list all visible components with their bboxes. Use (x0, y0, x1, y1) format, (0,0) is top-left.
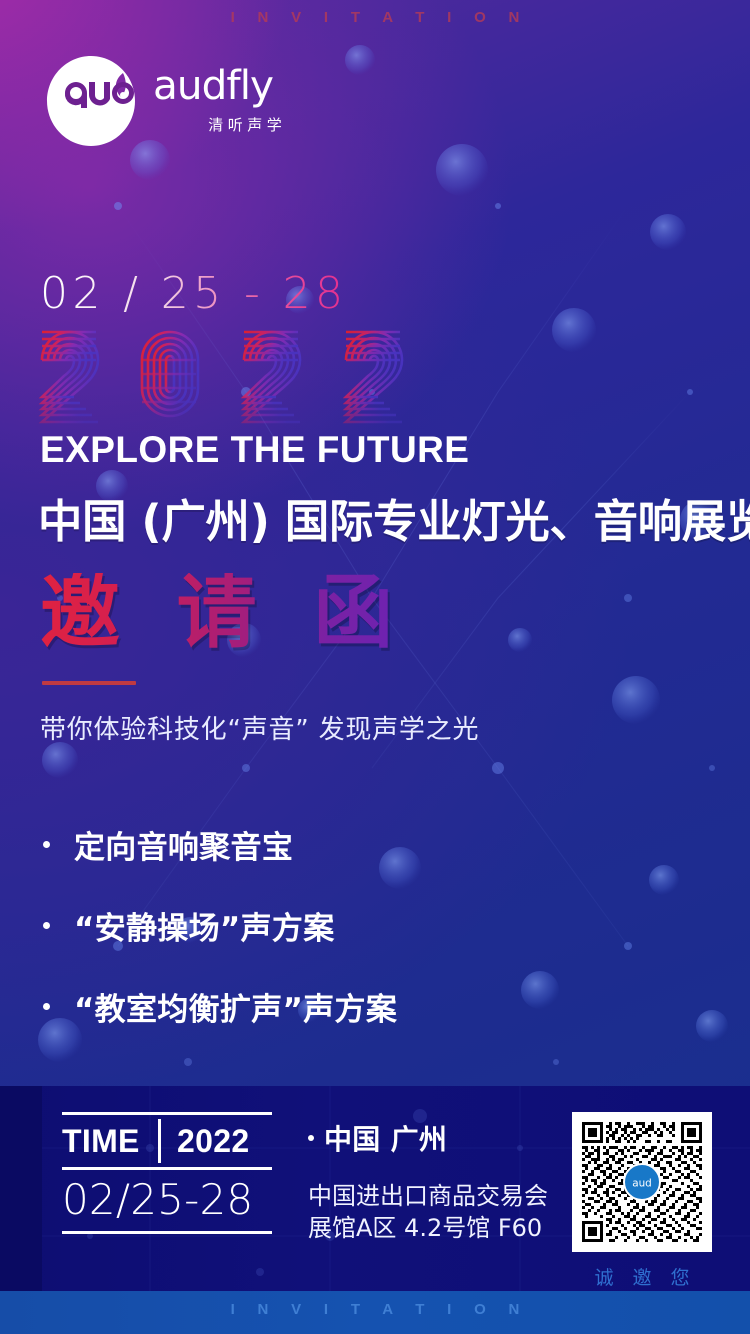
bottom-invitation-banner: I N V I T A T I O N (0, 1301, 750, 1318)
headline-chinese: 中国 (广州) 国际专业灯光、音响展览会 (38, 485, 750, 550)
venue-address-line-1: 中国进出口商品交易会 (308, 1180, 548, 1212)
year-2022-watermark (30, 316, 450, 446)
invitation-underline (42, 681, 136, 685)
list-item: 定向音响聚音宝 (40, 822, 660, 867)
bullet-dot-icon (43, 1003, 50, 1010)
audfly-logo-mark-icon (45, 55, 137, 147)
qr-block[interactable]: aud 诚 邀 您 来 (572, 1112, 712, 1317)
footer-left-accent-block (0, 1086, 42, 1291)
brand-chinese-name: 清听声学 (153, 114, 337, 135)
time-rule-middle (62, 1167, 272, 1170)
brand-wordmark-block: audfly 清听声学 (153, 65, 337, 137)
time-range: 02/25-28 (62, 1179, 272, 1221)
venue-city: 中国 广州 (324, 1118, 447, 1158)
highlights-list: 定向音响聚音宝 “安静操场”声方案 “教室均衡扩声”声方案 (40, 822, 660, 1029)
time-year: 2022 (177, 1125, 249, 1157)
highlight-label: 定向音响聚音宝 (74, 822, 293, 867)
bullet-dot-icon (43, 922, 50, 929)
venue-city-row: 中国 广州 (308, 1118, 548, 1158)
time-box: TIME 2022 02/25-28 (62, 1112, 272, 1234)
top-invitation-banner: I N V I T A T I O N (0, 9, 750, 26)
svg-text:audfly: audfly (153, 65, 273, 109)
highlight-label: “安静操场”声方案 (74, 903, 335, 948)
hero-tagline: 带你体验科技化“声音” 发现声学之光 (40, 709, 479, 746)
venue-address-line-2: 展馆A区 4.2号馆 F60 (308, 1212, 548, 1244)
list-item: “安静操场”声方案 (40, 903, 660, 948)
svg-text:aud: aud (632, 1177, 652, 1189)
list-item: “教室均衡扩声”声方案 (40, 984, 660, 1029)
venue-bullet-icon (308, 1135, 314, 1141)
venue-address: 中国进出口商品交易会 展馆A区 4.2号馆 F60 (308, 1180, 548, 1244)
brand-logo: audfly 清听声学 (45, 55, 337, 147)
qr-code-image[interactable]: aud (572, 1112, 712, 1252)
hero-date-range: 02 / 25 - 28 (40, 268, 347, 319)
time-divider (158, 1119, 161, 1163)
audfly-wordmark-icon: audfly (153, 65, 337, 111)
headline-english: EXPLORE THE FUTURE (40, 429, 469, 471)
highlight-label: “教室均衡扩声”声方案 (74, 984, 397, 1029)
time-rule-top (62, 1112, 272, 1115)
time-rule-bottom (62, 1231, 272, 1234)
time-label: TIME (62, 1125, 158, 1157)
bullet-dot-icon (43, 841, 50, 848)
time-row: TIME 2022 (62, 1119, 272, 1163)
qr-center-logo-icon: aud (623, 1163, 661, 1201)
invitation-title: 邀 请 函 (40, 573, 408, 653)
invitation-poster: I N V I T A T I O N audfly 清听声学 (0, 0, 750, 1334)
venue-block: 中国 广州 中国进出口商品交易会 展馆A区 4.2号馆 F60 (308, 1118, 548, 1244)
